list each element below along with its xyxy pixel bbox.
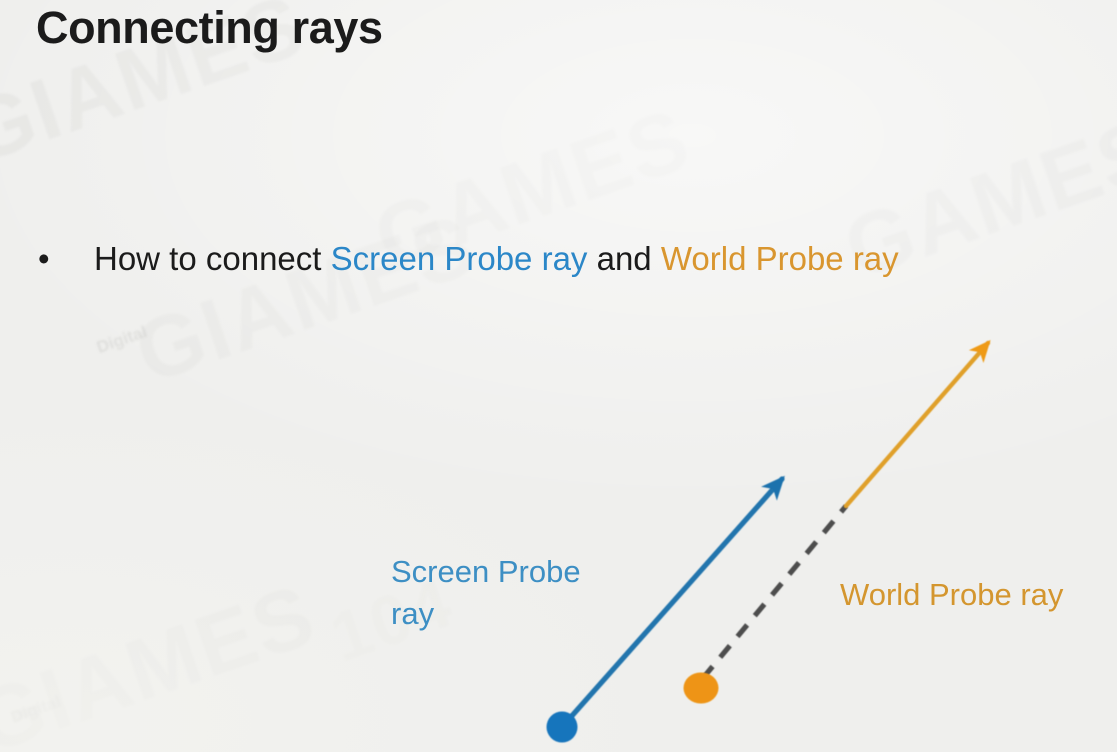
ray-diagram-svg [0,0,1117,752]
bullet-segment-how-to-connect: How to connect [94,240,331,277]
dashed-connector-line [703,506,846,678]
world-probe-ray-line [846,343,988,506]
ray-diagram [0,0,1117,752]
screen-probe-origin-dot [547,712,578,743]
bullet-list-item: • How to connect Screen Probe ray and Wo… [34,236,1094,282]
world-probe-ray-label: World Probe ray [840,574,1110,616]
bullet-segment-screen-probe-ray: Screen Probe ray [331,240,588,277]
screen-probe-ray-label: Screen Probe ray [391,551,623,635]
bullet-segment-and: and [587,240,660,277]
world-probe-origin-dot [684,673,719,704]
bullet-text: How to connect Screen Probe ray and Worl… [94,236,1094,282]
slide-canvas: GIAMES GAMES GAMES GIAMES GIAMES 104 Dig… [0,0,1117,752]
bullet-marker-icon: • [34,236,94,282]
bullet-segment-world-probe-ray: World Probe ray [661,240,899,277]
page-title: Connecting rays [36,2,383,54]
